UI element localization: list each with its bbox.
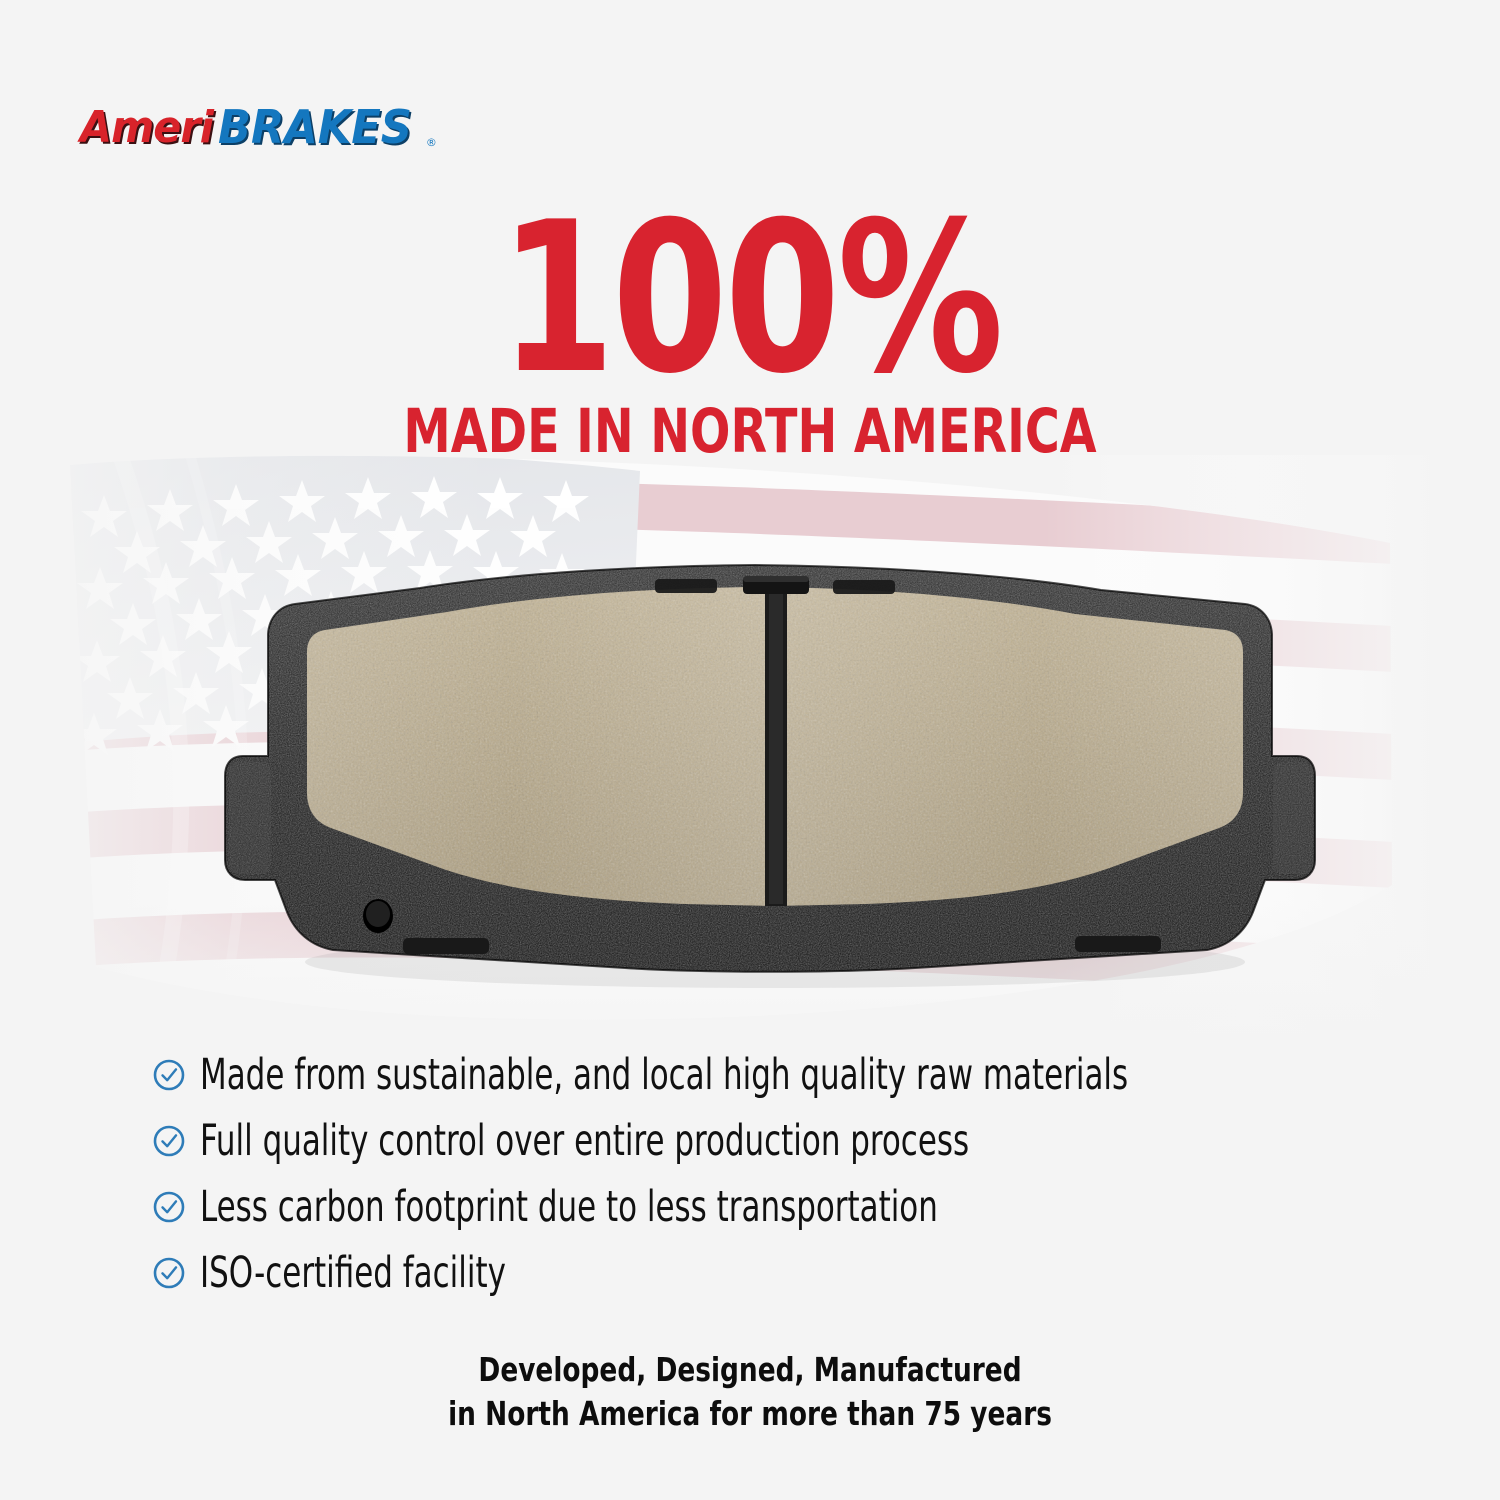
footer-line-1: Developed, Designed, Manufactured: [150, 1348, 1350, 1392]
list-item-label: Less carbon footprint due to less transp…: [200, 1186, 938, 1229]
list-item: ISO-certified facility: [152, 1240, 1402, 1306]
list-item: Less carbon footprint due to less transp…: [152, 1174, 1402, 1240]
registered-trademark-icon: ®: [426, 137, 437, 148]
mounting-hole: [363, 899, 393, 933]
list-item-label: Full quality control over entire product…: [200, 1120, 969, 1163]
brake-pad-icon: [215, 560, 1325, 990]
brake-pad-product-photo: [215, 560, 1325, 990]
headline-block: 100% MADE IN NORTH AMERICA: [0, 204, 1500, 462]
feature-list: Made from sustainable, and local high qu…: [152, 1042, 1402, 1306]
brand-logo-ameri: Ameri: [80, 106, 213, 150]
brand-logo: Ameri BRAKES ®: [80, 104, 437, 150]
footer-line-2: in North America for more than 75 years: [150, 1392, 1350, 1436]
footer-block: Developed, Designed, Manufactured in Nor…: [0, 1348, 1500, 1435]
list-item-label: ISO-certified facility: [200, 1252, 506, 1295]
headline-subtitle: MADE IN NORTH AMERICA: [165, 401, 1335, 462]
product-marketing-image: Ameri BRAKES ® 100% MADE IN NORTH AMERIC…: [0, 0, 1500, 1500]
list-item: Made from sustainable, and local high qu…: [152, 1042, 1402, 1108]
circle-check-icon: [152, 1058, 186, 1092]
list-item: Full quality control over entire product…: [152, 1108, 1402, 1174]
circle-check-icon: [152, 1256, 186, 1290]
list-item-label: Made from sustainable, and local high qu…: [200, 1054, 1128, 1097]
headline-percent: 100%: [150, 204, 1350, 395]
circle-check-icon: [152, 1124, 186, 1158]
brand-logo-brakes: BRAKES: [218, 104, 412, 150]
circle-check-icon: [152, 1190, 186, 1224]
